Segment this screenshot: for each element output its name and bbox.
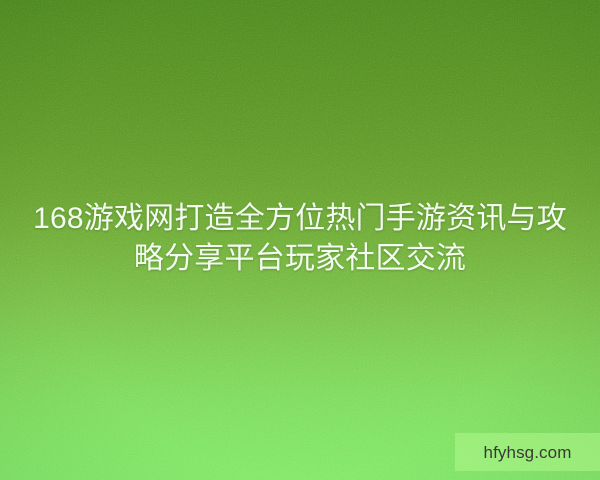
site-watermark: hfyhsg.com [455, 433, 600, 471]
headline-line-2: 略分享平台玩家社区交流 [22, 239, 578, 279]
promo-banner: 168游戏网打造全方位热门手游资讯与攻 略分享平台玩家社区交流 hfyhsg.c… [0, 0, 600, 480]
watermark-domain-text: hfyhsg.com [484, 444, 572, 461]
banner-headline: 168游戏网打造全方位热门手游资讯与攻 略分享平台玩家社区交流 [0, 199, 600, 279]
headline-line-1: 168游戏网打造全方位热门手游资讯与攻 [22, 199, 578, 239]
